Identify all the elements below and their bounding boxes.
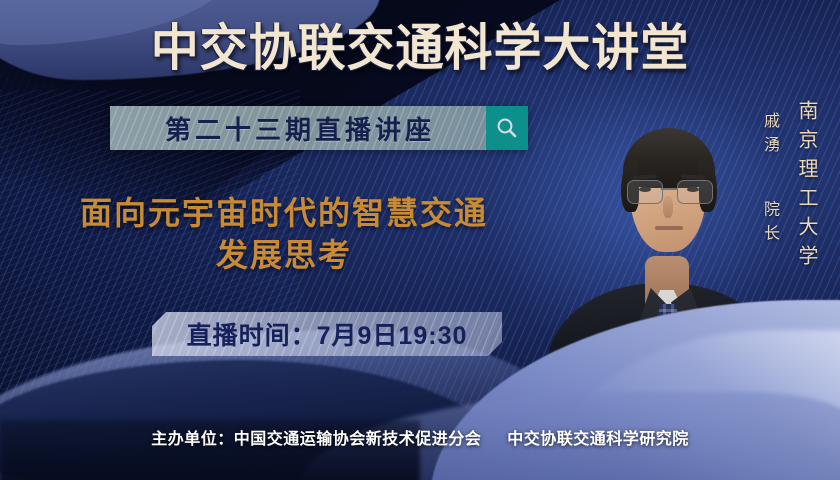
- episode-bar: 第二十三期直播讲座: [110, 106, 528, 150]
- lecture-topic: 面向元宇宙时代的智慧交通 发展思考: [28, 192, 540, 276]
- live-lecture-poster: 中交协联交通科学大讲堂 第二十三期直播讲座 面向元宇宙时代的智慧交通 发展思考 …: [0, 0, 840, 480]
- page-title: 中交协联交通科学大讲堂: [17, 20, 823, 76]
- speaker-portrait: [575, 98, 750, 398]
- episode-label: 第二十三期直播讲座: [161, 110, 435, 147]
- speaker-mouth: [655, 226, 683, 230]
- speaker-nose: [663, 196, 673, 218]
- speaker-title: 院长: [761, 200, 780, 248]
- broadcast-time-badge: 直播时间：7月9日19:30: [152, 312, 502, 356]
- search-button[interactable]: [486, 106, 528, 150]
- speaker-name: 戚湧: [761, 112, 780, 160]
- broadcast-time-label: 直播时间：7月9日19:30: [187, 316, 468, 352]
- speaker-name-title: 戚湧 院长: [758, 112, 782, 248]
- organizer-secondary: 中交协联交通科学研究院: [507, 431, 689, 448]
- lecture-topic-line1: 面向元宇宙时代的智慧交通: [28, 192, 540, 234]
- lecture-topic-line2: 发展思考: [28, 234, 540, 276]
- speaker-bottom-fade: [545, 348, 785, 418]
- episode-bar-body: 第二十三期直播讲座: [110, 106, 486, 150]
- organizer-primary: 主办单位：中国交通运输协会新技术促进分会: [151, 431, 481, 448]
- organizers-footer: 主办单位：中国交通运输协会新技术促进分会中交协联交通科学研究院: [0, 425, 840, 449]
- search-icon: [495, 116, 519, 140]
- speaker-affiliation: 南京理工大学: [793, 100, 822, 274]
